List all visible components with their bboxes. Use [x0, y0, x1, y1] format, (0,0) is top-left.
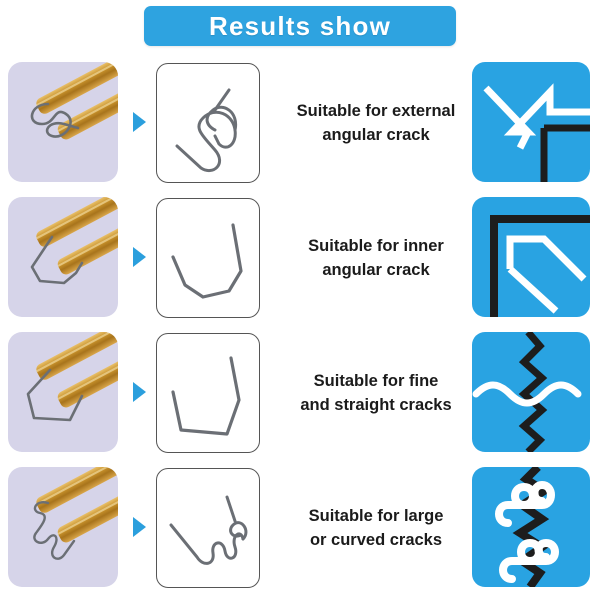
- staple-shape-squiggle: [156, 468, 260, 588]
- staple-shape-square-bracket: [156, 333, 260, 453]
- caption-line-1: Suitable for fine: [314, 370, 439, 394]
- caption-line-1: Suitable for inner: [308, 235, 444, 259]
- results-rows: Suitable for external angular crack: [0, 56, 600, 596]
- product-photo-external-angular: [8, 62, 118, 182]
- caption-line-2: and straight cracks: [300, 394, 451, 418]
- right-triangle-arrow-icon: [131, 516, 147, 538]
- caption-fine-straight: Suitable for fine and straight cracks: [283, 326, 469, 461]
- external-angular-crack-icon: [472, 62, 590, 182]
- caption-inner-angular: Suitable for inner angular crack: [283, 191, 469, 326]
- caption-line-1: Suitable for external: [297, 100, 456, 124]
- product-photo-fine-straight: [8, 332, 118, 452]
- product-photo-large-curved: [8, 467, 118, 587]
- result-row: Suitable for fine and straight cracks: [0, 326, 600, 461]
- staple-shape-s-wave: [156, 63, 260, 183]
- fine-straight-crack-icon: [472, 332, 590, 452]
- result-row: Suitable for external angular crack: [0, 56, 600, 191]
- large-curved-crack-icon: [472, 467, 590, 587]
- result-row: Suitable for inner angular crack: [0, 191, 600, 326]
- caption-line-2: or curved cracks: [310, 529, 442, 553]
- staple-shape-horseshoe: [156, 198, 260, 318]
- caption-external-angular: Suitable for external angular crack: [283, 56, 469, 191]
- right-triangle-arrow-icon: [131, 246, 147, 268]
- caption-line-2: angular crack: [322, 259, 429, 283]
- title-banner-container: Results show: [0, 6, 600, 46]
- results-show-page: Results show: [0, 0, 600, 600]
- result-row: Suitable for large or curved cracks: [0, 461, 600, 596]
- caption-line-2: angular crack: [322, 124, 429, 148]
- inner-angular-crack-icon: [472, 197, 590, 317]
- caption-large-curved: Suitable for large or curved cracks: [283, 461, 469, 596]
- product-photo-inner-angular: [8, 197, 118, 317]
- title-banner: Results show: [144, 6, 456, 46]
- page-title: Results show: [209, 13, 391, 39]
- right-triangle-arrow-icon: [131, 111, 147, 133]
- right-triangle-arrow-icon: [131, 381, 147, 403]
- caption-line-1: Suitable for large: [309, 505, 444, 529]
